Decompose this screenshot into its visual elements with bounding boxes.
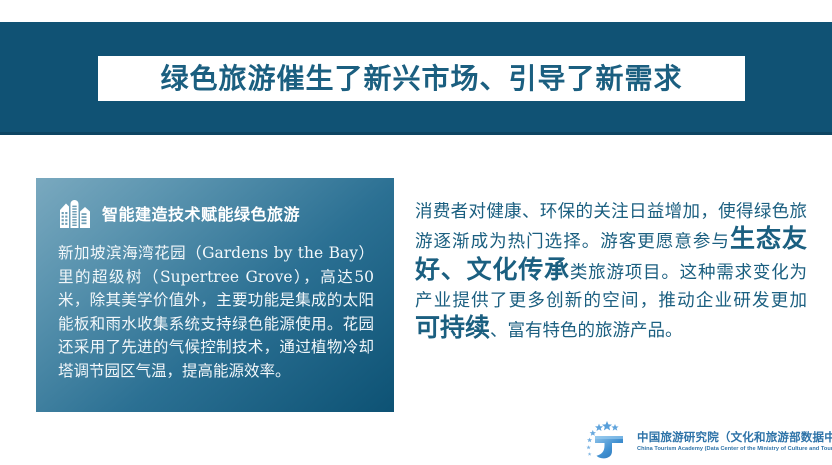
organization-name-en: China Tourism Academy (Data Center of th… xyxy=(637,446,832,452)
organization-logo: 中国旅游研究院（文化和旅游部数据中心） China Tourism Academ… xyxy=(583,420,832,460)
info-card: 智能建造技术赋能绿色旅游 新加坡滨海湾花园（Gardens by the Bay… xyxy=(36,178,394,412)
right-content-column: 消费者对健康、环保的关注日益增加，使得绿色旅游逐渐成为热门选择。游客更愿意参与生… xyxy=(415,198,807,346)
emphasized-phrase-3: 可持续 xyxy=(415,313,490,342)
logo-text-block: 中国旅游研究院（文化和旅游部数据中心） China Tourism Academ… xyxy=(637,429,832,452)
city-buildings-icon xyxy=(58,196,92,230)
body-paragraph: 消费者对健康、环保的关注日益增加，使得绿色旅游逐渐成为热门选择。游客更愿意参与生… xyxy=(415,198,807,346)
paragraph-segment-4: 、富有特色的旅游产品。 xyxy=(490,321,683,341)
info-card-body: 新加坡滨海湾花园（Gardens by the Bay）里的超级树（Supert… xyxy=(58,242,374,383)
slide-title-box: 绿色旅游催生了新兴市场、引导了新需求 xyxy=(98,56,745,101)
organization-name-cn: 中国旅游研究院（文化和旅游部数据中心） xyxy=(637,429,832,445)
page-title: 绿色旅游催生了新兴市场、引导了新需求 xyxy=(160,65,682,93)
china-tourism-academy-t-logo xyxy=(583,420,629,460)
info-card-heading: 智能建造技术赋能绿色旅游 xyxy=(102,201,300,225)
info-card-header: 智能建造技术赋能绿色旅游 xyxy=(58,196,374,230)
